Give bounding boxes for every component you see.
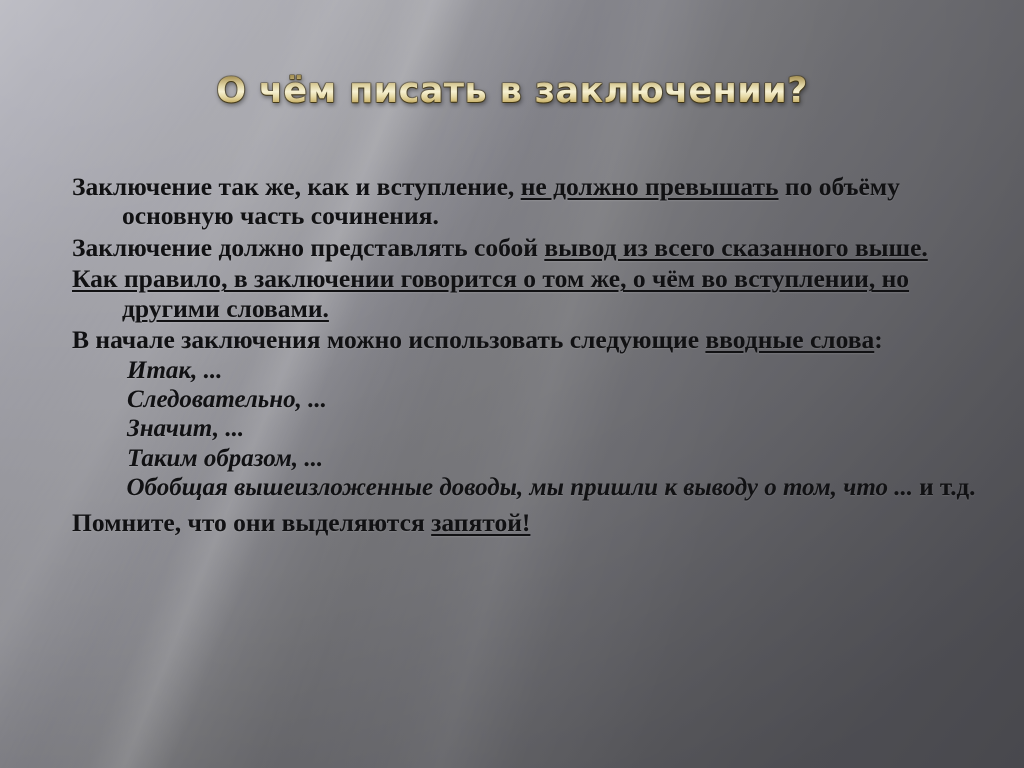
text-segment: В начале заключения можно использовать с… (72, 325, 705, 354)
text-segment-underlined: вводные слова (705, 325, 874, 354)
text-segment-underlined: не должно превышать (521, 172, 779, 201)
paragraph-volume-rule: Заключение так же, как и вступление, не … (72, 172, 962, 231)
list-item: Обобщая вышеизложенные доводы, мы пришли… (127, 473, 987, 502)
text-segment: Помните, что они выделяются (72, 508, 431, 537)
text-segment-underlined: запятой! (431, 508, 530, 537)
presentation-slide: О чём писать в заключении? Заключение та… (0, 0, 1024, 768)
paragraph-same-as-intro: Как правило, в заключении говорится о то… (72, 264, 962, 323)
paragraph-intro-words-lead: В начале заключения можно использовать с… (72, 325, 962, 354)
list-item-text: Обобщая вышеизложенные доводы, мы пришли… (127, 474, 913, 501)
text-segment-underlined: вывод из всего сказанного выше. (544, 233, 927, 262)
slide-title: О чём писать в заключении? (0, 72, 1024, 111)
list-item: Значит, ... (127, 414, 962, 443)
intro-words-list: Итак, ... Следовательно, ... Значит, ...… (72, 356, 962, 503)
text-segment-underlined: Как правило, в заключении говорится о то… (72, 264, 909, 322)
paragraph-comma-reminder: Помните, что они выделяются запятой! (72, 508, 962, 537)
list-item: Таким образом, ... (127, 444, 962, 473)
list-item: Следовательно, ... (127, 385, 962, 414)
text-segment: Заключение должно представлять собой (72, 233, 544, 262)
slide-body: Заключение так же, как и вступление, не … (72, 172, 962, 539)
paragraph-conclusion-is-summary: Заключение должно представлять собой выв… (72, 233, 962, 262)
text-segment: Заключение так же, как и вступление, (72, 172, 521, 201)
list-item: Итак, ... (127, 356, 962, 385)
list-item-suffix: и т.д. (913, 474, 975, 501)
text-segment: : (874, 325, 883, 354)
